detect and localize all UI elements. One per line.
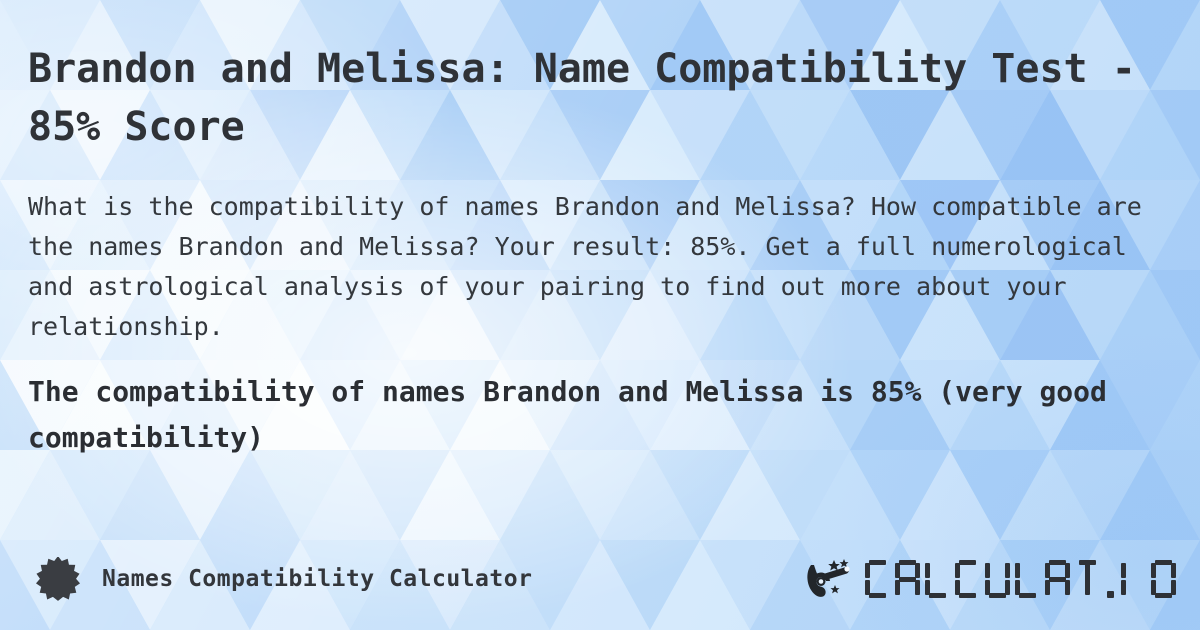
- logo-seg-T: [1075, 560, 1100, 598]
- starburst-icon: [36, 557, 80, 601]
- result-statement: The compatibility of names Brandon and M…: [28, 369, 1172, 461]
- logo-seg-C2: [955, 560, 980, 598]
- brand-label: Names Compatibility Calculator: [102, 566, 532, 592]
- logo-seg-C: [865, 560, 890, 598]
- logo-seg-I: [1121, 560, 1146, 598]
- card-footer: Names Compatibility Calculator: [0, 550, 1200, 608]
- og-card: Brandon and Melissa: Name Compatibility …: [0, 0, 1200, 630]
- logo-seg-O: [1151, 560, 1176, 598]
- description-paragraph: What is the compatibility of names Brand…: [28, 187, 1172, 347]
- card-content: Brandon and Melissa: Name Compatibility …: [0, 0, 1200, 630]
- calculatio-logo[interactable]: [803, 558, 1176, 600]
- logo-wordmark: [865, 560, 1176, 598]
- page-title: Brandon and Melissa: Name Compatibility …: [28, 40, 1172, 156]
- logo-seg-A2: [1045, 560, 1070, 598]
- logo-seg-period: [1105, 560, 1116, 598]
- logo-seg-L2: [1015, 560, 1040, 598]
- logo-seg-U: [985, 560, 1010, 598]
- logo-seg-L: [925, 560, 950, 598]
- hand-magic-wand-icon: [803, 558, 859, 600]
- logo-seg-A: [895, 560, 920, 598]
- brand-block: Names Compatibility Calculator: [36, 557, 532, 601]
